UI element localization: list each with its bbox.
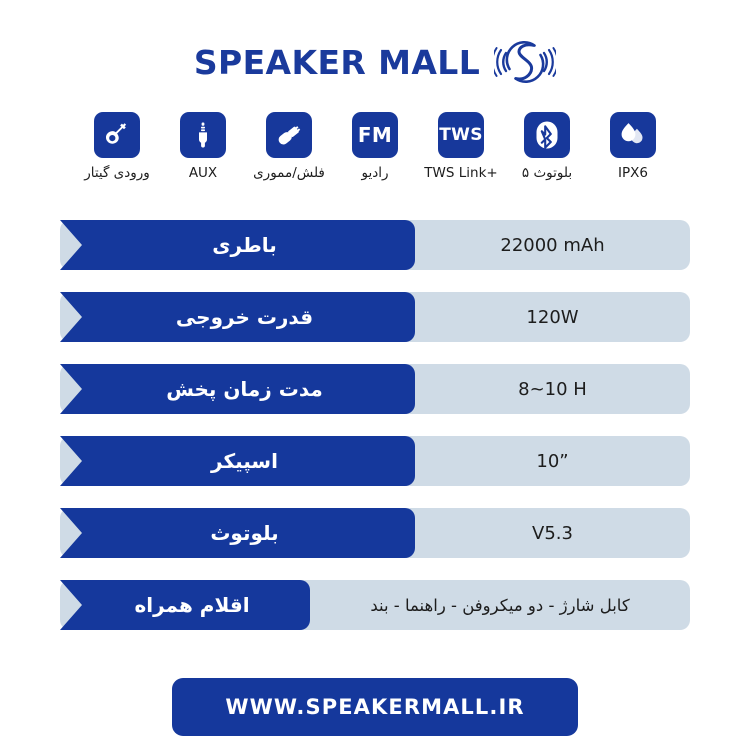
feature-usb-flash[interactable]: فلش/مموری — [253, 112, 325, 181]
fm-radio-icon: FM — [352, 112, 398, 158]
feature-label: بلوتوث ۵ — [522, 166, 572, 181]
feature-guitar[interactable]: ورودی گیتار — [81, 112, 153, 181]
table-row: V5.3 بلوتوث — [60, 508, 690, 558]
tws-label: TWS — [439, 125, 483, 145]
table-row: 10” اسپیکر — [60, 436, 690, 486]
bluetooth-icon — [524, 112, 570, 158]
spec-label: اسپیکر — [60, 436, 415, 486]
feature-label: AUX — [189, 166, 217, 181]
spec-sheet-page: SPEAKER MALL ورودی گیتار — [0, 0, 750, 750]
feature-ipx6[interactable]: IPX6 — [597, 112, 669, 181]
spec-value: کابل شارژ - دو میکروفن - راهنما - بند — [310, 580, 690, 630]
spec-value: V5.3 — [415, 508, 690, 558]
feature-aux[interactable]: AUX — [167, 112, 239, 181]
spec-label: قدرت خروجی — [60, 292, 415, 342]
water-drop-icon — [610, 112, 656, 158]
feature-label: TWS Link+ — [424, 166, 497, 181]
tws-icon: TWS — [438, 112, 484, 158]
speaker-wave-s-logo-icon — [494, 33, 556, 91]
table-row: کابل شارژ - دو میکروفن - راهنما - بند اق… — [60, 580, 690, 630]
table-row: 22000 mAh باطری — [60, 220, 690, 270]
fm-label: FM — [358, 123, 392, 147]
feature-bluetooth[interactable]: بلوتوث ۵ — [511, 112, 583, 181]
feature-fm-radio[interactable]: FM رادیو — [339, 112, 411, 181]
feature-label: فلش/مموری — [253, 166, 325, 181]
spec-label: باطری — [60, 220, 415, 270]
spec-label: اقلام همراه — [60, 580, 310, 630]
spec-value: 22000 mAh — [415, 220, 690, 270]
feature-label: ورودی گیتار — [84, 166, 150, 181]
spec-value: 10” — [415, 436, 690, 486]
spec-value: 8~10 H — [415, 364, 690, 414]
usb-flash-icon — [266, 112, 312, 158]
table-row: 120W قدرت خروجی — [60, 292, 690, 342]
table-row: 8~10 H مدت زمان پخش — [60, 364, 690, 414]
feature-icon-row: ورودی گیتار AUX — [0, 112, 750, 194]
feature-label: IPX6 — [618, 166, 648, 181]
aux-jack-icon — [180, 112, 226, 158]
website-button[interactable]: WWW.SPEAKERMALL.IR — [172, 678, 578, 736]
guitar-icon — [94, 112, 140, 158]
brand-header: SPEAKER MALL — [0, 22, 750, 102]
feature-label: رادیو — [362, 166, 389, 181]
feature-tws[interactable]: TWS TWS Link+ — [425, 112, 497, 181]
spec-table: 22000 mAh باطری 120W قدرت خروجی 8~10 H م… — [60, 220, 690, 652]
spec-label: مدت زمان پخش — [60, 364, 415, 414]
brand-name: SPEAKER MALL — [194, 43, 480, 82]
website-url: WWW.SPEAKERMALL.IR — [225, 695, 524, 719]
spec-value: 120W — [415, 292, 690, 342]
spec-label: بلوتوث — [60, 508, 415, 558]
